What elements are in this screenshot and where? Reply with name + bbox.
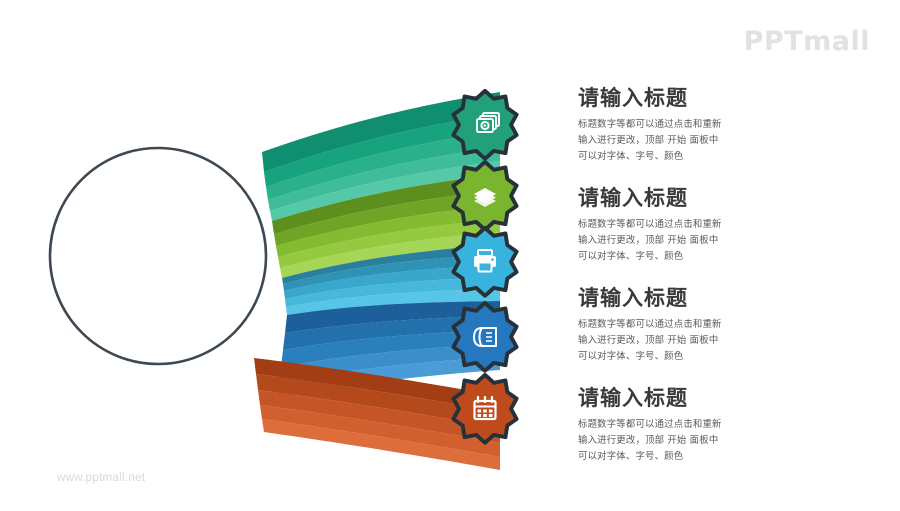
text-block-3: 请输入标题 标题数字等都可以通过点击和重新输入进行更改，顶部 开始 面板中可以对… — [578, 286, 868, 366]
star-badge-shape — [453, 303, 516, 371]
text-block-title[interactable]: 请输入标题 — [578, 386, 868, 410]
badge-printer[interactable] — [453, 228, 516, 296]
badge-books-stack[interactable] — [453, 162, 516, 230]
ribbon-diagram — [0, 0, 560, 506]
pptmall-logo: PPTmall — [744, 26, 870, 57]
text-block-description[interactable]: 标题数字等都可以通过点击和重新输入进行更改，顶部 开始 面板中可以对字体、字号、… — [578, 317, 726, 366]
text-block-description[interactable]: 标题数字等都可以通过点击和重新输入进行更改，顶部 开始 面板中可以对字体、字号、… — [578, 217, 726, 266]
badge-scroll[interactable] — [453, 303, 516, 371]
text-block-title[interactable]: 请输入标题 — [578, 286, 868, 310]
text-block-1: 请输入标题 标题数字等都可以通过点击和重新输入进行更改，顶部 开始 面板中可以对… — [578, 86, 868, 166]
badge-calendar[interactable] — [453, 375, 516, 443]
star-badge-shape — [453, 375, 516, 443]
slide-canvas: PPTmall www.pptmall.net — [0, 0, 900, 506]
text-block-2: 请输入标题 标题数字等都可以通过点击和重新输入进行更改，顶部 开始 面板中可以对… — [578, 186, 868, 266]
text-block-title[interactable]: 请输入标题 — [578, 186, 868, 210]
text-block-description[interactable]: 标题数字等都可以通过点击和重新输入进行更改，顶部 开始 面板中可以对字体、字号、… — [578, 117, 726, 166]
badge-photo-stack[interactable] — [453, 91, 516, 159]
photo-stack-icon — [477, 113, 499, 132]
text-block-4: 请输入标题 标题数字等都可以通过点击和重新输入进行更改，顶部 开始 面板中可以对… — [578, 386, 868, 466]
text-block-title[interactable]: 请输入标题 — [578, 86, 868, 110]
text-block-description[interactable]: 标题数字等都可以通过点击和重新输入进行更改，顶部 开始 面板中可以对字体、字号、… — [578, 417, 726, 466]
empty-circle[interactable] — [50, 148, 266, 364]
